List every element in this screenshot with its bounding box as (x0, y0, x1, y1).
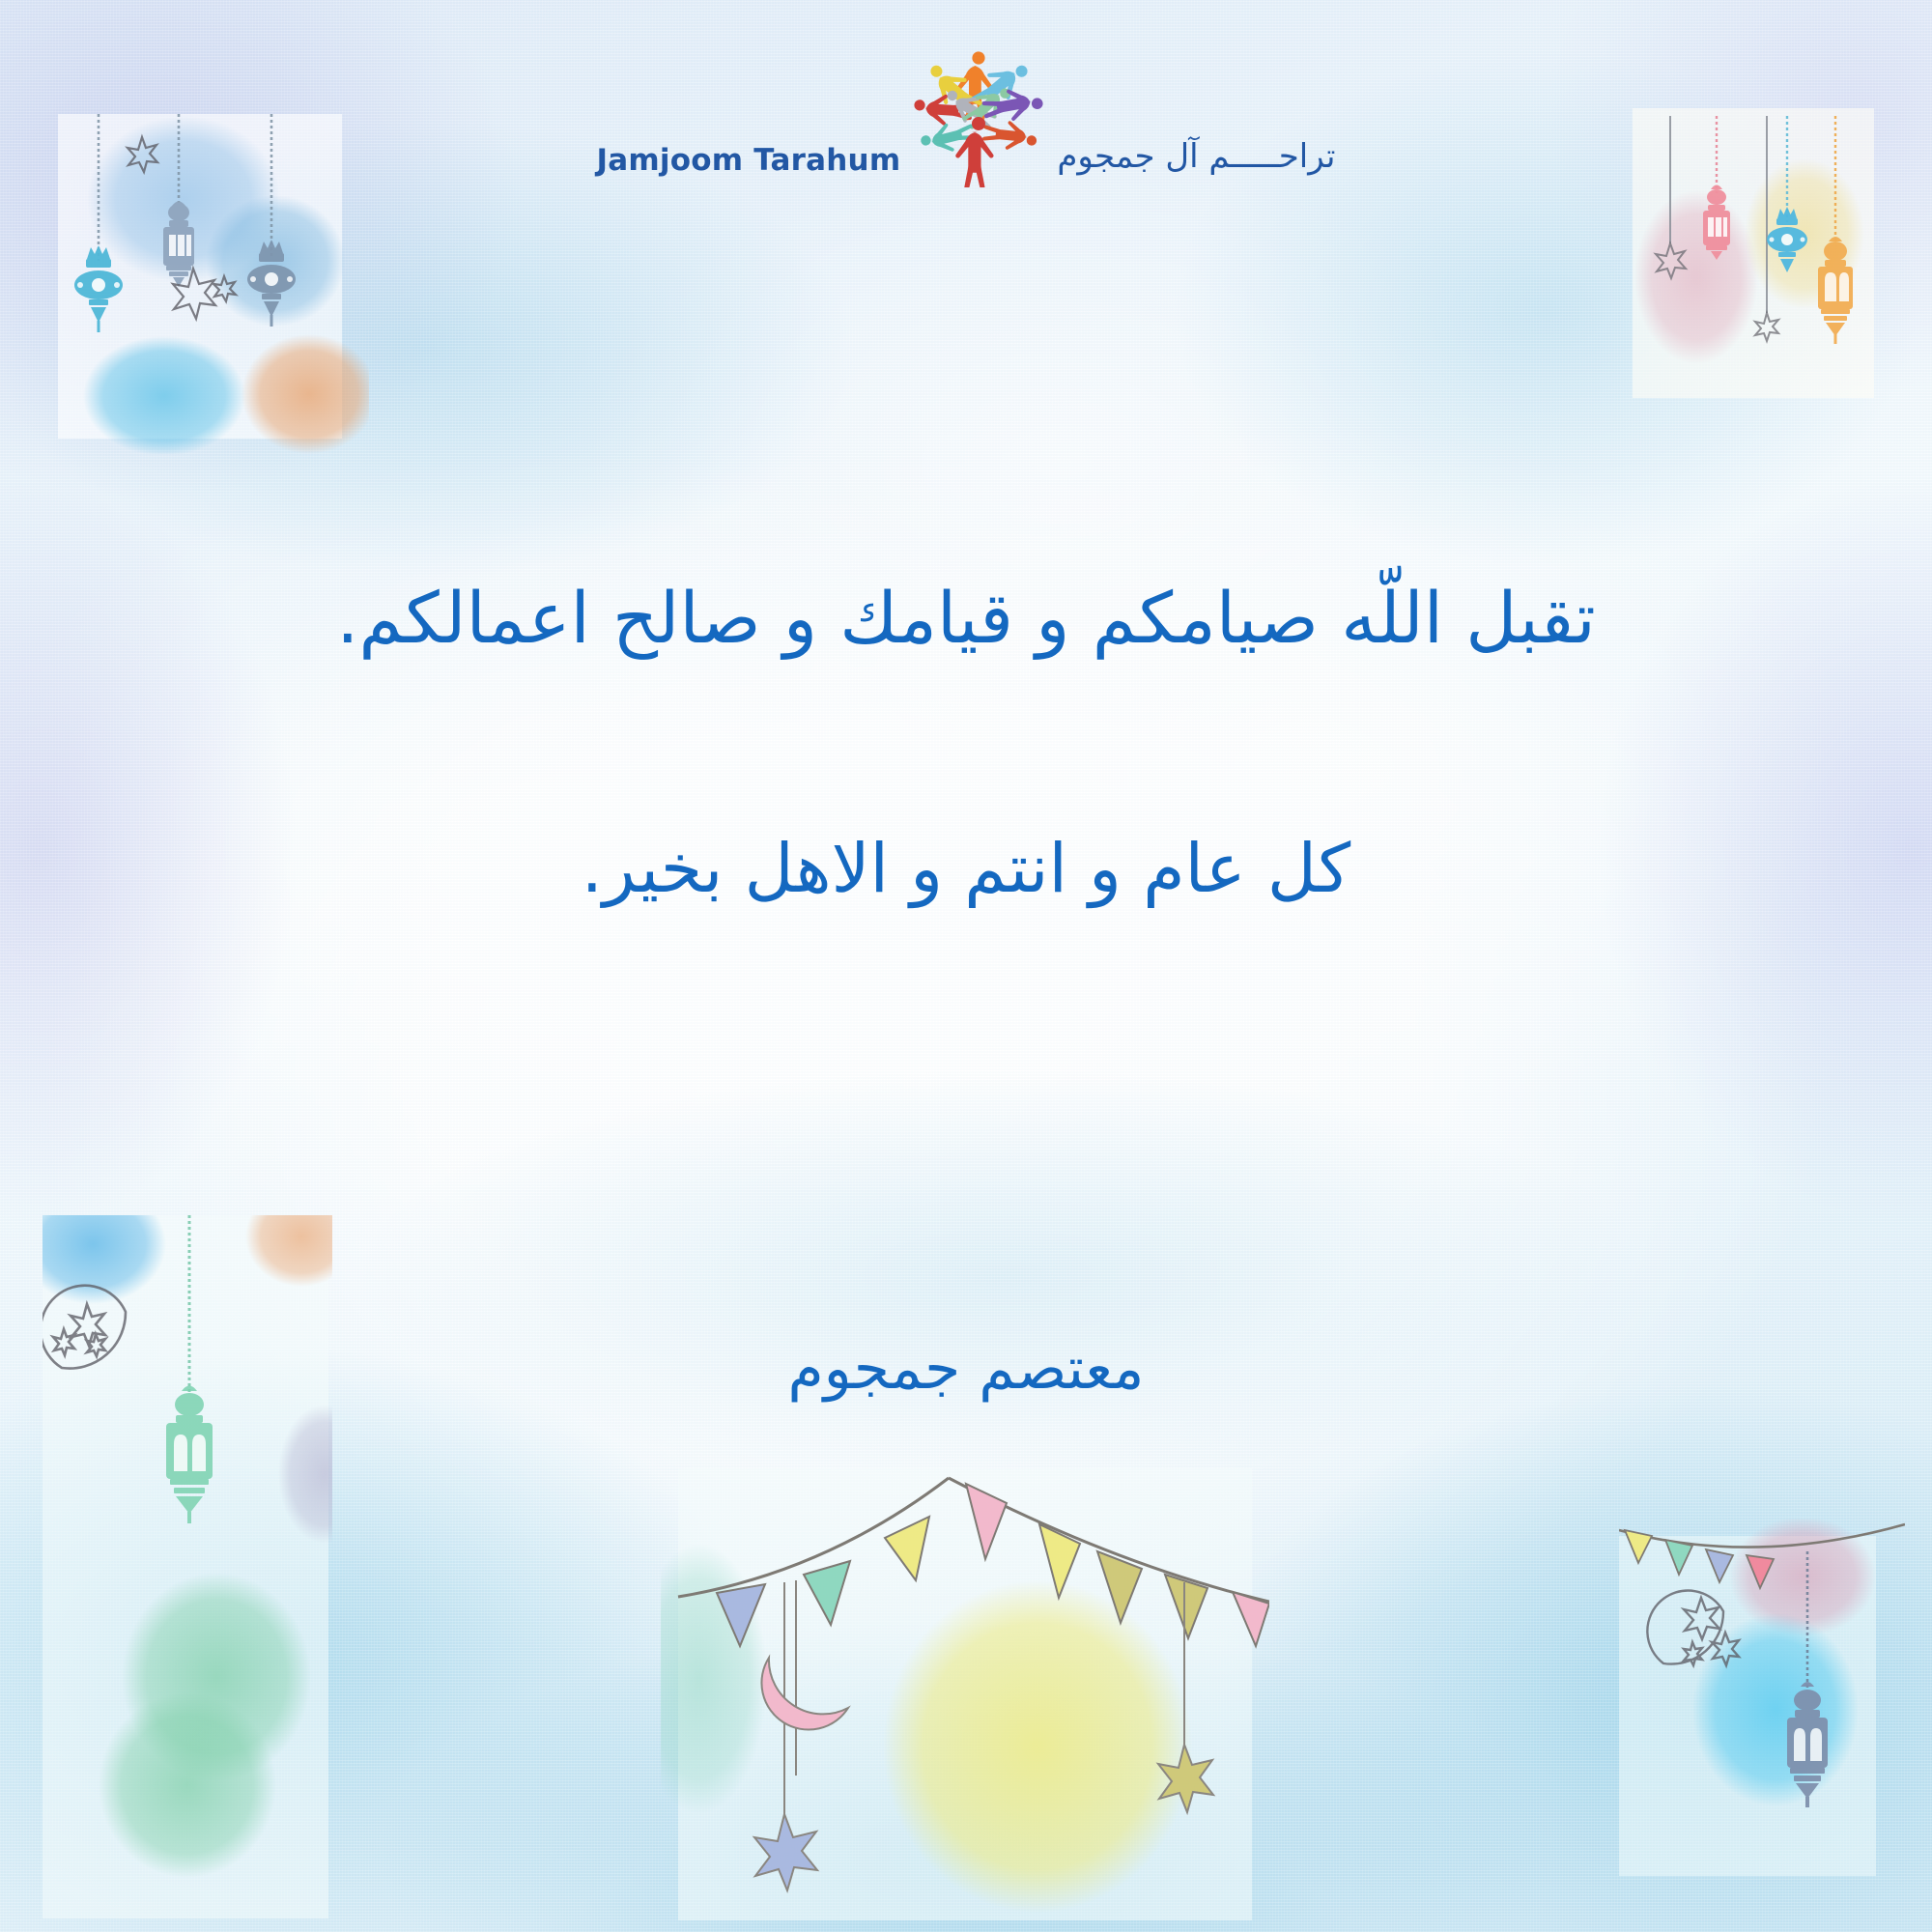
greeting-line-1: تقبل اللّه صيامكم و قيامك و صالح اعمالكم… (0, 578, 1932, 660)
people-tree-icon (906, 43, 1051, 187)
lantern-pink-icon (1703, 185, 1730, 261)
logo-name-english: Jamjoom Tarahum (597, 143, 901, 187)
greeting-card: Jamjoom Tarahum (0, 0, 1932, 1932)
decoration-top-left (41, 106, 369, 454)
logo-name-arabic: تراحـــــم آل جمجوم (1057, 137, 1335, 187)
decoration-bottom-right (1619, 1519, 1905, 1905)
greeting-line-2: كل عام و انتم و الاهل بخير. (0, 829, 1932, 908)
decoration-top-right (1633, 108, 1922, 408)
decoration-bottom-left (43, 1215, 332, 1920)
decoration-bottom-center (661, 1457, 1269, 1932)
